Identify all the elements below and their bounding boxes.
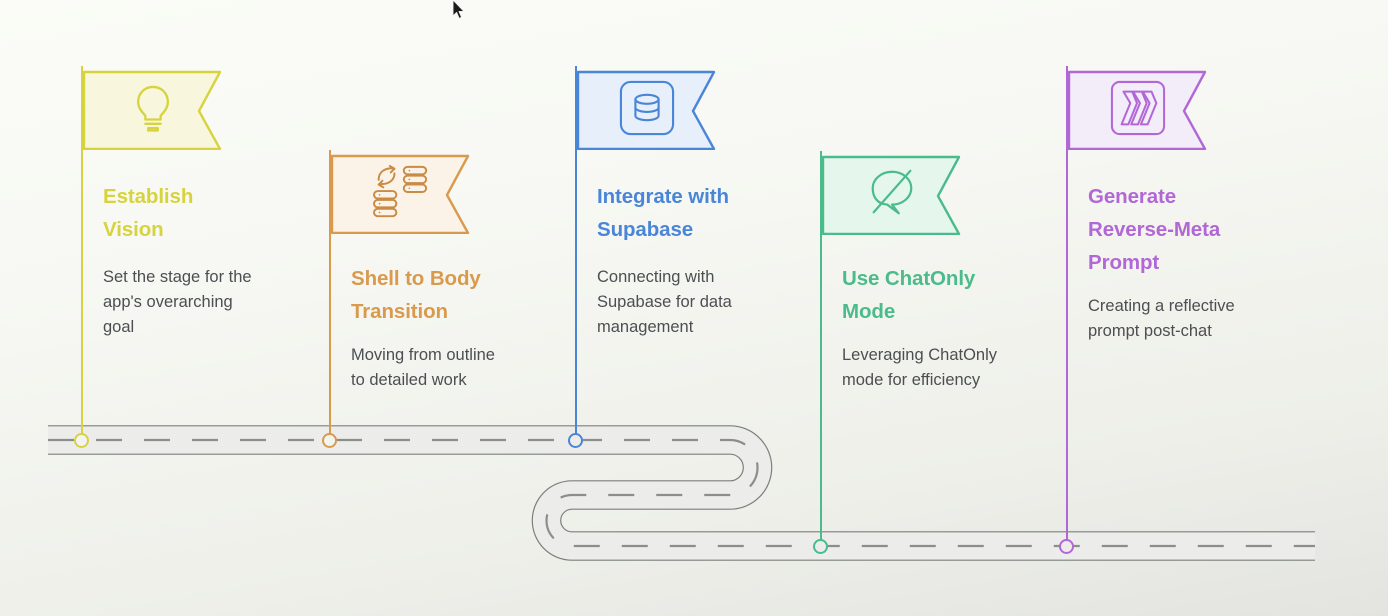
road-node-shell-to-body-transition[interactable]	[322, 433, 337, 448]
milestone-flag	[577, 66, 717, 150]
milestone-description: Set the stage for the app's overarching …	[103, 265, 252, 340]
road-node-integrate-with-supabase[interactable]	[568, 433, 583, 448]
road-node-use-chatonly-mode[interactable]	[813, 539, 828, 554]
mouse-pointer-icon	[452, 0, 466, 20]
milestone-description: Creating a reflective prompt post-chat	[1088, 294, 1235, 344]
milestone-title: Generate Reverse-Meta Prompt	[1088, 180, 1220, 279]
milestone-description: Connecting with Supabase for data manage…	[597, 265, 732, 340]
milestone-flag	[331, 150, 471, 234]
road-node-establish-vision[interactable]	[74, 433, 89, 448]
milestone-title: Integrate with Supabase	[597, 180, 729, 246]
roadmap-diagram: Establish Vision Set the stage for the a…	[0, 0, 1388, 616]
milestone-title: Establish Vision	[103, 180, 193, 246]
milestone-flag	[83, 66, 223, 150]
road-node-generate-reverse-meta-prompt[interactable]	[1059, 539, 1074, 554]
milestone-title: Shell to Body Transition	[351, 262, 481, 328]
milestone-description: Moving from outline to detailed work	[351, 343, 495, 393]
milestone-description: Leveraging ChatOnly mode for efficiency	[842, 343, 997, 393]
milestone-title: Use ChatOnly Mode	[842, 262, 975, 328]
milestone-flag	[822, 151, 962, 235]
milestone-flag	[1068, 66, 1208, 150]
